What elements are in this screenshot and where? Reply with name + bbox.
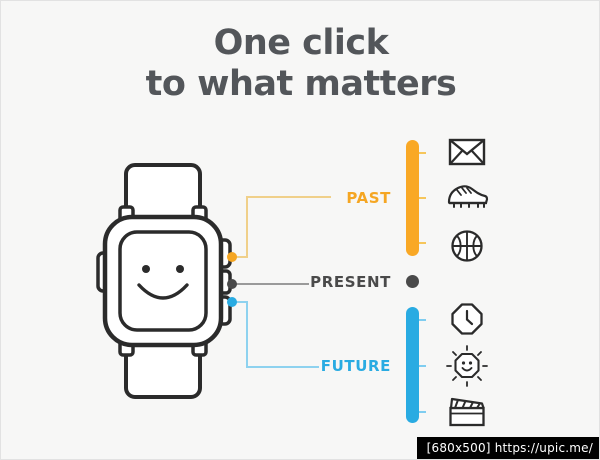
smiley-eye-right xyxy=(176,265,184,273)
timeline-dot-present xyxy=(406,275,419,288)
clapperboard-icon[interactable] xyxy=(444,389,490,435)
bar-tick-future-1 xyxy=(419,319,426,321)
page-title: One click to what matters xyxy=(1,23,600,105)
timeline-label-future[interactable]: FUTURE xyxy=(321,357,391,375)
timeline-label-present[interactable]: PRESENT xyxy=(310,273,391,291)
watch-strap-top xyxy=(126,165,200,222)
bar-tick-past-2 xyxy=(419,197,426,199)
sun-smiley-icon[interactable] xyxy=(444,343,490,389)
watch-strap-bottom xyxy=(126,340,200,397)
timeline-bar-future xyxy=(406,307,419,423)
timeline-label-past[interactable]: PAST xyxy=(346,189,391,207)
clock-icon[interactable] xyxy=(444,296,490,342)
envelope-icon[interactable] xyxy=(444,129,490,175)
title-line-1: One click xyxy=(1,23,600,64)
watch-screen[interactable] xyxy=(120,232,206,330)
timeline-bar-past xyxy=(406,140,419,256)
bar-tick-past-3 xyxy=(419,242,426,244)
cleat-shoe-icon[interactable] xyxy=(444,174,490,220)
smiley-eye-left xyxy=(142,265,150,273)
bar-tick-past-1 xyxy=(419,152,426,154)
title-line-2: to what matters xyxy=(1,64,600,105)
smartwatch-illustration xyxy=(89,161,249,401)
connector-past xyxy=(235,197,331,257)
infographic-canvas: One click to what matters xyxy=(0,0,600,460)
basketball-icon[interactable] xyxy=(444,223,490,269)
bar-tick-future-3 xyxy=(419,411,426,413)
watermark: [680x500] https://upic.me/ xyxy=(417,437,599,459)
bar-tick-future-2 xyxy=(419,365,426,367)
